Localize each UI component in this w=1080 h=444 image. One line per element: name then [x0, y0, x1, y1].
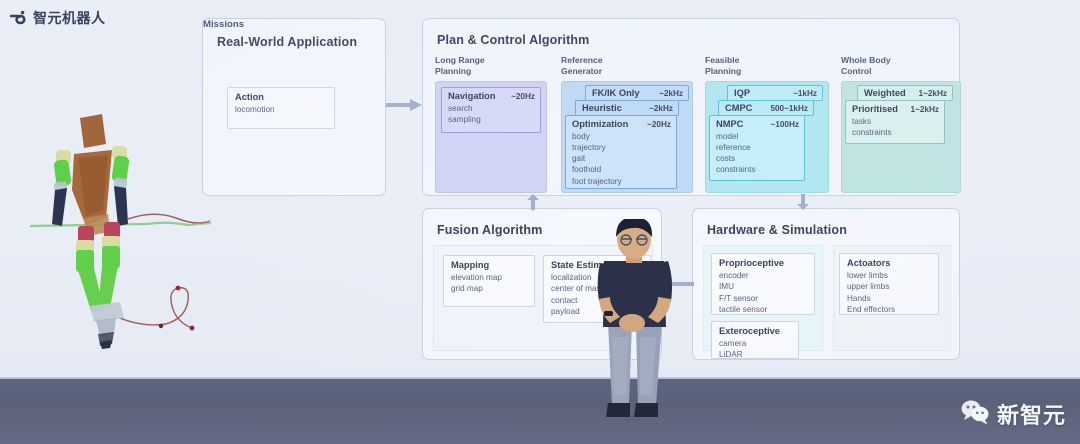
- card-weighted-freq: 1~2kHz: [919, 89, 947, 98]
- subhead-feasible-planning: Feasible Planning: [705, 55, 829, 76]
- card-action: Action locomotion: [227, 87, 335, 129]
- card-fk-ik-only-freq: ~2kHz: [659, 89, 683, 98]
- card-cmpc-freq: 500~1kHz: [770, 104, 808, 113]
- card-navigation-freq: ~20Hz: [511, 92, 535, 101]
- card-heuristic-freq: ~2kHz: [649, 104, 673, 113]
- subhead-long-range-planning: Long Range Planning: [435, 55, 547, 76]
- panel-plan-control-algorithm: Plan & Control Algorithm Long Range Plan…: [422, 18, 960, 196]
- watermark: 新智元: [960, 398, 1066, 430]
- card-actoators-name: Actoators: [847, 258, 932, 268]
- card-mapping: Mapping elevation map grid map: [443, 255, 535, 307]
- subhead-whole-body-control: Whole Body Control: [841, 55, 961, 76]
- card-nmpc-name: NMPC: [716, 119, 743, 129]
- card-heuristic: Heuristic ~2kHz: [575, 100, 679, 116]
- card-prioritised: Prioritised 1~2kHz tasks constraints: [845, 100, 945, 144]
- card-weighted: Weighted 1~2kHz: [857, 85, 953, 101]
- card-proprioceptive-items: encoder IMU F/T sensor tactile sensor: [719, 270, 808, 315]
- card-weighted-name: Weighted: [864, 88, 906, 98]
- panel-hardware-simulation: Hardware & Simulation Proprioceptive enc…: [692, 208, 960, 360]
- card-nmpc-items: model reference costs constraints: [716, 131, 799, 176]
- panel-title-hardware-simulation: Hardware & Simulation: [707, 223, 847, 237]
- card-mapping-items: elevation map grid map: [451, 272, 528, 295]
- arrow-fusion-to-plan: [526, 194, 540, 210]
- card-mapping-name: Mapping: [451, 260, 528, 270]
- brand-logo: 智元机器人: [8, 8, 106, 28]
- card-actoators-items: lower limbs upper limbs Hands End effect…: [847, 270, 932, 315]
- presentation-slide: Real-World Application Missions Action l…: [196, 8, 966, 370]
- watermark-text: 新智元: [997, 398, 1066, 430]
- card-optimization-items: body trajectory gait foothold foot traje…: [572, 131, 671, 187]
- brand-name: 智元机器人: [33, 8, 106, 28]
- card-prioritised-items: tasks constraints: [852, 116, 939, 138]
- card-iqp-freq: ~1kHz: [793, 89, 817, 98]
- card-optimization: Optimization ~20Hz body trajectory gait …: [565, 115, 677, 189]
- presenter-person: [586, 219, 686, 437]
- card-exteroceptive-name: Exteroceptive: [719, 326, 792, 336]
- card-fk-ik-only-name: FK/IK Only: [592, 88, 640, 98]
- card-proprioceptive-name: Proprioceptive: [719, 258, 808, 268]
- card-prioritised-name: Prioritised: [852, 104, 898, 114]
- humanoid-robot-simulation: [28, 78, 213, 353]
- stage-floor: [0, 379, 1080, 444]
- label-missions: Missions: [203, 19, 385, 30]
- card-iqp-name: IQP: [734, 88, 750, 98]
- card-action-items: locomotion: [235, 104, 334, 115]
- card-cmpc: CMPC 500~1kHz: [718, 100, 814, 116]
- arrow-plan-to-hardware: [796, 194, 810, 210]
- card-optimization-name: Optimization: [572, 119, 628, 129]
- card-actoators: Actoators lower limbs upper limbs Hands …: [839, 253, 939, 315]
- card-iqp: IQP ~1kHz: [727, 85, 823, 101]
- agibot-logo-icon: [8, 9, 27, 28]
- card-exteroceptive-items: camera LiDAR: [719, 338, 792, 361]
- card-proprioceptive: Proprioceptive encoder IMU F/T sensor ta…: [711, 253, 815, 315]
- panel-title-fusion-algorithm: Fusion Algorithm: [437, 223, 542, 237]
- arrow-rwa-to-plan: [386, 98, 424, 112]
- card-exteroceptive: Exteroceptive camera LiDAR: [711, 321, 799, 359]
- wechat-icon: [960, 399, 990, 430]
- panel-real-world-application: Real-World Application Missions Action l…: [202, 18, 386, 196]
- card-fk-ik-only: FK/IK Only ~2kHz: [585, 85, 689, 101]
- card-optimization-freq: ~20Hz: [647, 120, 671, 129]
- panel-title-real-world-application: Real-World Application: [217, 35, 357, 49]
- card-prioritised-freq: 1~2kHz: [911, 105, 939, 114]
- card-navigation-name: Navigation: [448, 91, 496, 101]
- card-navigation-items: search sampling: [448, 103, 535, 125]
- card-action-name: Action: [235, 92, 334, 102]
- card-cmpc-name: CMPC: [725, 103, 752, 113]
- subhead-reference-generator: Reference Generator: [561, 55, 693, 76]
- card-heuristic-name: Heuristic: [582, 103, 622, 113]
- card-nmpc-freq: ~100Hz: [771, 120, 799, 129]
- card-navigation: Navigation ~20Hz search sampling: [441, 87, 541, 133]
- card-nmpc: NMPC ~100Hz model reference costs constr…: [709, 115, 805, 181]
- panel-title-plan-control-algorithm: Plan & Control Algorithm: [437, 33, 589, 47]
